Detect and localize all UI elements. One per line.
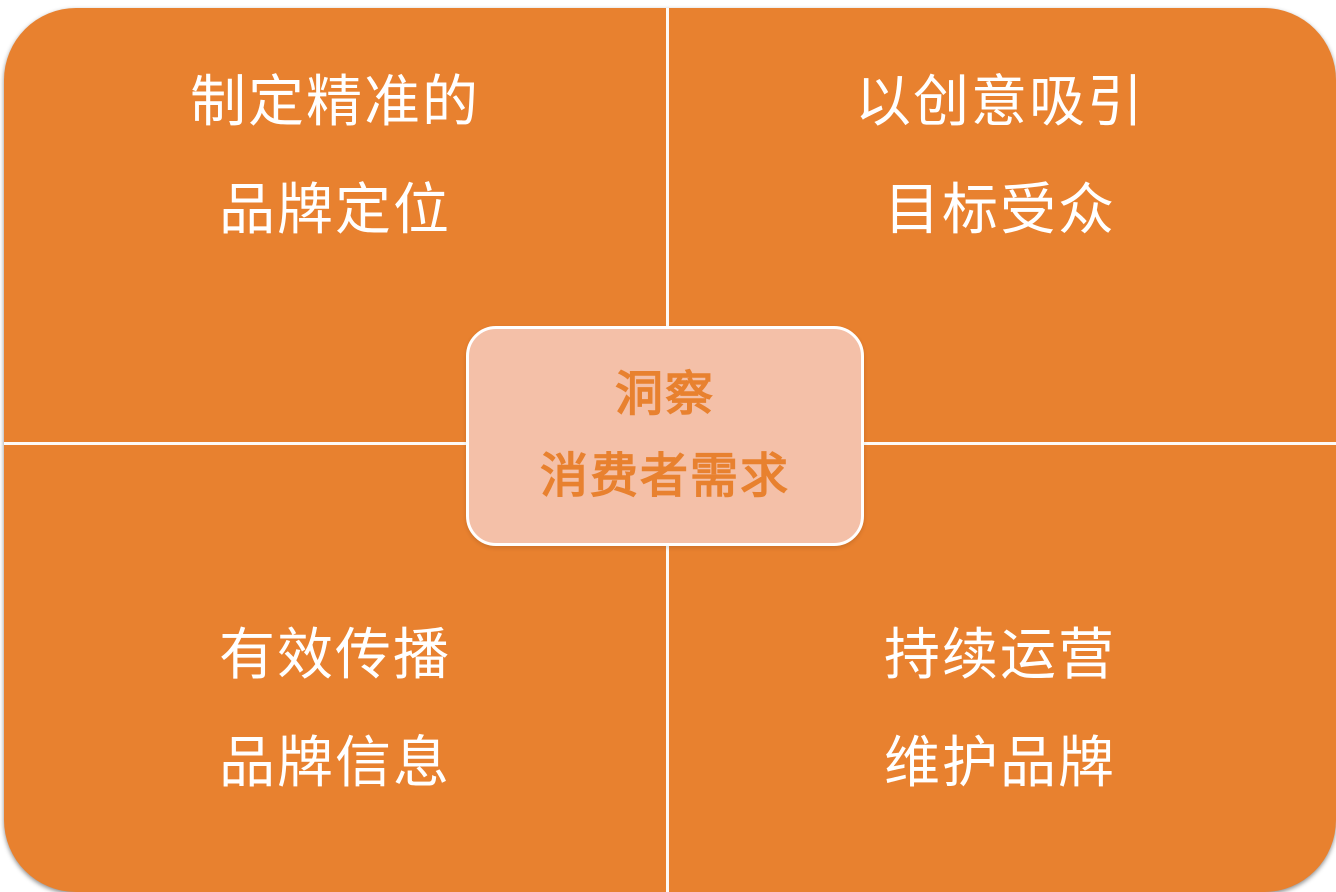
quadrant-top-left-line-2: 品牌定位 xyxy=(219,182,451,238)
center-callout-box[interactable]: 洞察 消费者需求 xyxy=(466,326,864,546)
quadrant-top-right-line-1: 以创意吸引 xyxy=(855,74,1145,130)
center-callout-line-1: 洞察 xyxy=(615,371,715,419)
diagram-canvas: 制定精准的 品牌定位 以创意吸引 目标受众 有效传播 品牌信息 持续运营 维护品… xyxy=(0,0,1336,892)
quadrant-bottom-right-line-1: 持续运营 xyxy=(884,627,1116,683)
center-callout-line-2: 消费者需求 xyxy=(540,453,790,501)
quadrant-top-right-line-2: 目标受众 xyxy=(884,182,1116,238)
quadrant-top-left-line-1: 制定精准的 xyxy=(190,74,480,130)
quadrant-bottom-left-line-2: 品牌信息 xyxy=(219,735,451,791)
quadrant-bottom-right-line-2: 维护品牌 xyxy=(884,735,1116,791)
quadrant-bottom-left-line-1: 有效传播 xyxy=(219,627,451,683)
